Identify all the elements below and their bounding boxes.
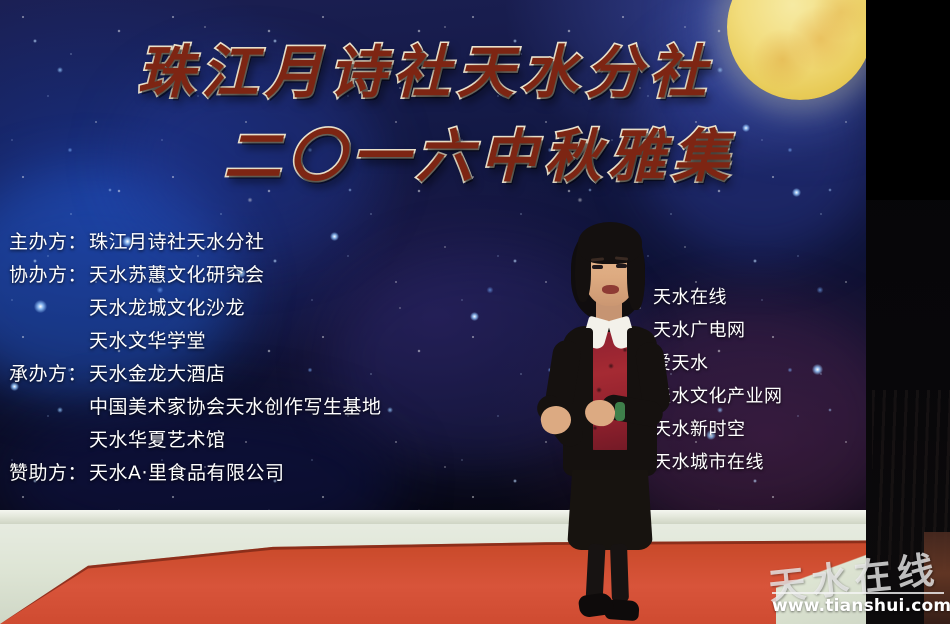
presenter-eye-right	[616, 264, 627, 268]
credit-label: 赞助方：	[9, 458, 89, 485]
presenter-leg-right	[610, 544, 629, 603]
presenter-skirt	[567, 470, 653, 550]
credit-value: 天水龙城文化沙龙	[89, 293, 245, 320]
wooden-post	[924, 532, 950, 624]
bright-star	[812, 364, 823, 375]
event-backdrop-banner: 珠江月诗社天水分社 二〇一六中秋雅集 主办方： 珠江月诗社天水分社 协办方： 天…	[0, 0, 872, 512]
credit-row: 承办方： 天水金龙大酒店	[9, 359, 429, 392]
presenter-jade-bangle	[615, 402, 625, 421]
hall-top-right-dark	[866, 0, 950, 200]
bright-star	[470, 312, 479, 321]
credit-row: 天水龙城文化沙龙	[9, 293, 429, 326]
credit-value: 天水华夏艺术馆	[89, 425, 226, 452]
presenter-shoe-left	[578, 592, 615, 619]
stage-skirt-trim	[0, 510, 872, 524]
credit-row: 协办方： 天水苏蕙文化研究会	[9, 260, 429, 293]
credit-row: 天水华夏艺术馆	[9, 425, 429, 458]
presenter-mouth	[602, 285, 619, 294]
organiser-credit-list: 主办方： 珠江月诗社天水分社 协办方： 天水苏蕙文化研究会 天水龙城文化沙龙 天…	[9, 227, 429, 491]
credit-label: 主办方：	[9, 227, 89, 254]
credit-row: 中国美术家协会天水创作写生基地	[9, 392, 429, 425]
event-photo: 珠江月诗社天水分社 二〇一六中秋雅集 主办方： 珠江月诗社天水分社 协办方： 天…	[0, 0, 950, 624]
presenter-woman	[523, 222, 693, 624]
banner-title-line-1: 珠江月诗社天水分社	[90, 44, 760, 101]
bright-star	[792, 188, 801, 197]
presenter-hair-fringe	[578, 222, 642, 264]
credit-value: 中国美术家协会天水创作写生基地	[89, 392, 382, 419]
credit-row: 赞助方： 天水A·里食品有限公司	[9, 458, 429, 491]
credit-value: 珠江月诗社天水分社	[89, 227, 265, 254]
credit-value: 天水A·里食品有限公司	[89, 458, 285, 485]
presenter-eye-left	[592, 265, 603, 269]
credit-row: 主办方： 珠江月诗社天水分社	[9, 227, 429, 260]
credit-value: 天水文华学堂	[89, 326, 206, 353]
credit-row: 天水文华学堂	[9, 326, 429, 359]
banner-title-line-2: 二〇一六中秋雅集	[200, 128, 760, 185]
credit-value: 天水金龙大酒店	[89, 359, 226, 386]
credit-label: 承办方：	[9, 359, 89, 386]
banner-title: 珠江月诗社天水分社 二〇一六中秋雅集	[0, 44, 760, 185]
credit-value: 天水苏蕙文化研究会	[89, 260, 265, 287]
credit-label: 协办方：	[9, 260, 89, 287]
